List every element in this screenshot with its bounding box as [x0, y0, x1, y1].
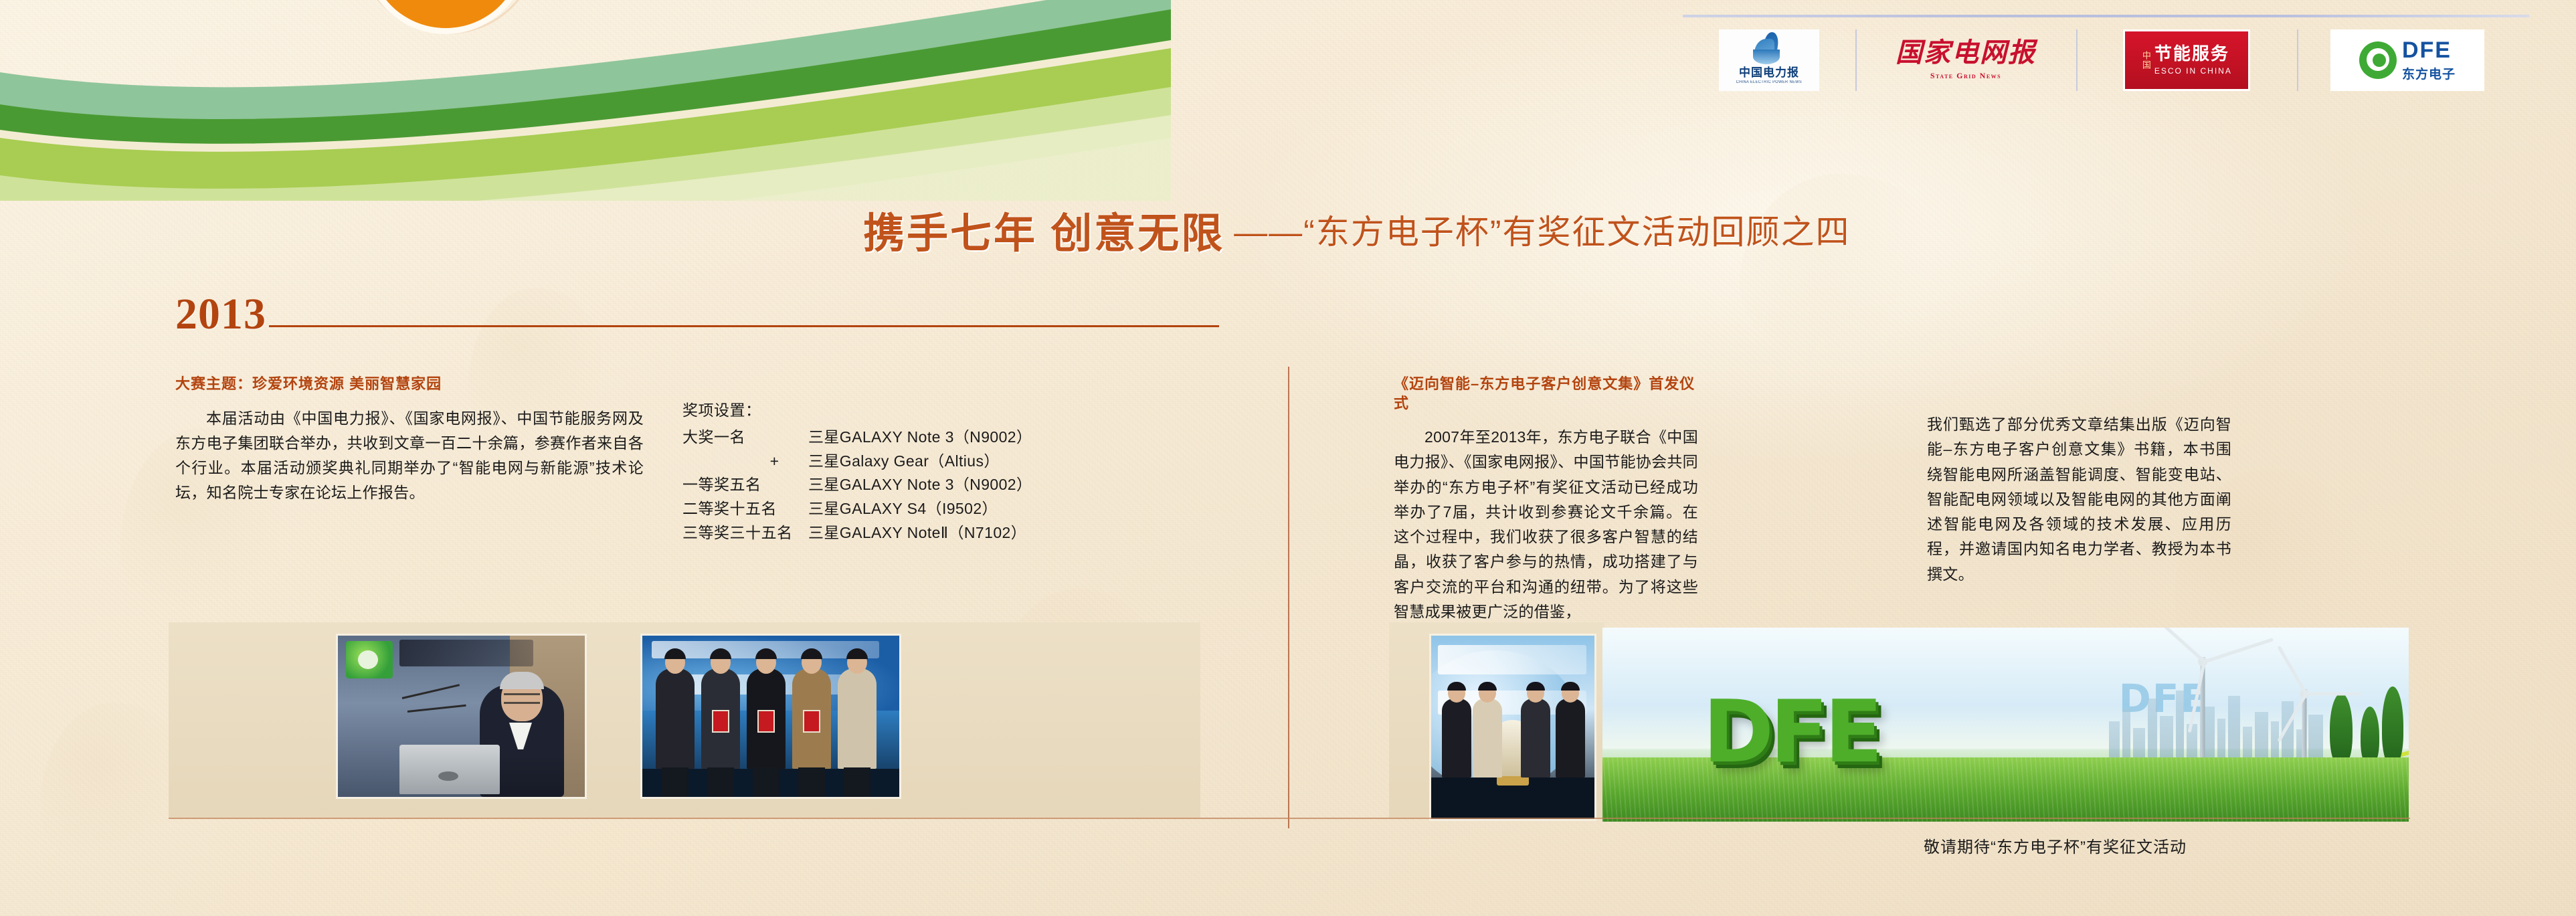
- ceremony-participant: [1473, 699, 1502, 777]
- dfe-3d-logo: DFE: [1703, 682, 1944, 783]
- photo-group-award[interactable]: [640, 634, 901, 799]
- award-recipient: [838, 668, 877, 769]
- column-divider: [1288, 367, 1289, 828]
- bottom-caption: 敬请期待“东方电子杯”有奖征文活动: [1924, 834, 2392, 857]
- award-recipient: [701, 668, 740, 769]
- page-title: 携手七年 创意无限 ——“东方电子杯”有奖征文活动回顾之四: [863, 201, 2268, 258]
- page-title-bold: 携手七年 创意无限: [863, 199, 1224, 260]
- esco-badge-zh: 中国: [2141, 39, 2150, 81]
- right-column: 我们甄选了部分优秀文章结集出版《迈向智能–东方电子客户创意文集》书籍，本书围绕智…: [1927, 412, 2231, 587]
- microphone-icon: [407, 705, 466, 713]
- award-row: 三等奖三十五名 三星GALAXY NoteⅡ（N7102）: [682, 521, 1218, 545]
- logo-bar-rule: [1683, 15, 2529, 17]
- award-plus-sign: +: [682, 450, 808, 474]
- banner-text-line-1: [1438, 645, 1586, 674]
- award-prize: 三星GALAXY Note 3（N9002）: [808, 426, 1032, 450]
- logo-label-en: CHINA ELECTRIC POWER NEWS: [1736, 80, 1803, 84]
- book-launch-heading: 《迈向智能–东方电子客户创意文集》首发仪式: [1394, 375, 1698, 413]
- dfe-swirl-icon: [2359, 41, 2397, 79]
- award-prize: 三星GALAXY S4（I9502）: [808, 497, 998, 521]
- logo-label-zh: 国家电网报: [1896, 39, 2036, 66]
- ceremony-participant: [1442, 699, 1471, 777]
- year-rule: [269, 325, 1219, 327]
- award-recipient: [747, 668, 786, 769]
- year-label: 2013: [175, 294, 266, 335]
- logo-dongfang-electronics[interactable]: DFE 东方电子: [2297, 27, 2518, 94]
- award-prize: 三星Galaxy Gear（Altius）: [808, 450, 1000, 474]
- mid-column: 《迈向智能–东方电子客户创意文集》首发仪式 2007年至2013年，东方电子联合…: [1394, 375, 1698, 624]
- year-heading: 2013: [175, 294, 1219, 335]
- logo-label-en: State Grid News: [1930, 71, 2001, 81]
- photo-ceremony[interactable]: [1429, 634, 1596, 821]
- poster-canvas: 中国电力报 CHINA ELECTRIC POWER NEWS 国家电网报 St…: [0, 0, 2576, 916]
- mid-column-body: 2007年至2013年，东方电子联合《中国电力报》、《国家电网报》、中国节能协会…: [1394, 425, 1698, 624]
- award-prize: 三星GALAXY NoteⅡ（N7102）: [808, 521, 1026, 545]
- glasses-icon: [504, 693, 540, 704]
- award-row: 一等奖五名 三星GALAXY Note 3（N9002）: [682, 473, 1218, 497]
- green-wave-graphic: [0, 0, 1171, 201]
- logo-label-en: ESCO IN CHINA: [2154, 66, 2232, 76]
- ceremony-participant: [1521, 699, 1550, 777]
- microphone-icon: [402, 684, 460, 699]
- tree-icon: [2382, 686, 2403, 765]
- page-title-subtitle: ——“东方电子杯”有奖征文活动回顾之四: [1234, 205, 1850, 254]
- awards-title: 奖项设置：: [682, 397, 1218, 420]
- dfe-swirl-icon: [346, 641, 393, 678]
- banner-dfe-green-energy[interactable]: DFE: [1602, 628, 2409, 822]
- award-row: 大奖一名 三星GALAXY Note 3（N9002）: [682, 426, 1218, 450]
- sponsor-logo-bar: 中国电力报 CHINA ELECTRIC POWER NEWS 国家电网报 St…: [1683, 15, 2529, 94]
- awards-block: 奖项设置： 大奖一名 三星GALAXY Note 3（N9002） + 三星Ga…: [682, 397, 1218, 545]
- logo-row: 中国电力报 CHINA ELECTRIC POWER NEWS 国家电网报 St…: [1683, 27, 2518, 94]
- right-column-body: 我们甄选了部分优秀文章结集出版《迈向智能–东方电子客户创意文集》书籍，本书围绕智…: [1927, 412, 2231, 587]
- award-label: 二等奖十五名: [682, 497, 808, 521]
- award-label: 三等奖三十五名: [682, 521, 808, 545]
- ceremony-participant: [1556, 699, 1585, 777]
- logo-label-zh: 节能服务: [2154, 45, 2229, 63]
- logo-label-en: DFE: [2402, 39, 2452, 62]
- contest-theme-heading: 大赛主题：珍爱环境资源 美丽智慧家园: [175, 375, 644, 394]
- award-recipient: [792, 668, 831, 769]
- logo-esco-in-china[interactable]: 中国 节能服务 ESCO IN CHINA: [2076, 27, 2297, 94]
- left-column: 大赛主题：珍爱环境资源 美丽智慧家园 本届活动由《中国电力报》、《国家电网报》、…: [175, 375, 644, 506]
- award-row: + 三星Galaxy Gear（Altius）: [682, 450, 1218, 474]
- award-label: 大奖一名: [682, 426, 808, 450]
- award-recipient: [656, 668, 695, 769]
- tree-icon: [2361, 707, 2379, 765]
- award-prize: 三星GALAXY Note 3（N9002）: [808, 473, 1032, 497]
- award-row: 二等奖十五名 三星GALAXY S4（I9502）: [682, 497, 1218, 521]
- backdrop-text-block: [399, 640, 533, 666]
- logo-state-grid-news[interactable]: 国家电网报 State Grid News: [1855, 27, 2076, 94]
- logo-label-zh: 东方电子: [2402, 64, 2456, 82]
- left-column-body: 本届活动由《中国电力报》、《国家电网报》、中国节能服务网及东方电子集团联合举办，…: [175, 406, 644, 506]
- bottom-rule: [169, 818, 2410, 819]
- logo-label-zh: 中国电力报: [1739, 67, 1799, 78]
- photo-speaker-podium[interactable]: [336, 634, 587, 799]
- laptop-icon: [399, 745, 500, 794]
- china-power-news-icon: [1752, 32, 1786, 66]
- logo-china-power-news[interactable]: 中国电力报 CHINA ELECTRIC POWER NEWS: [1683, 27, 1855, 94]
- award-label: 一等奖五名: [682, 473, 808, 497]
